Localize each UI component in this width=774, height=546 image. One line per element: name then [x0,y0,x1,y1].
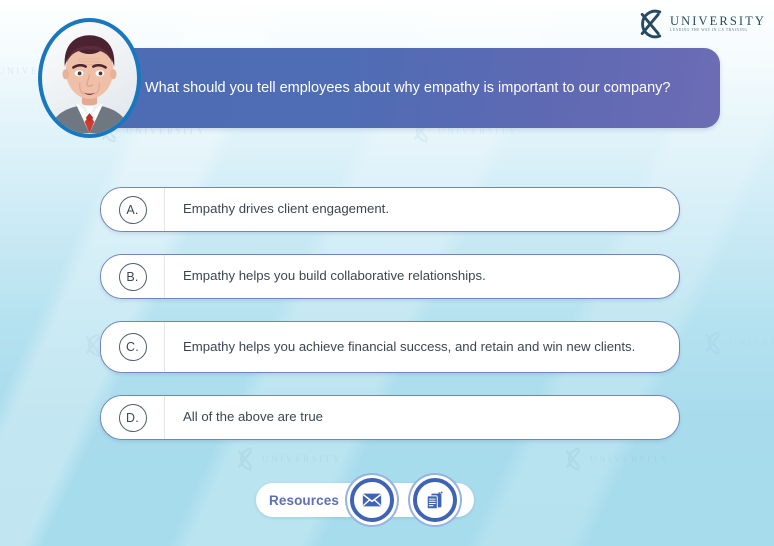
resources-bar: Resources [256,483,474,517]
option-letter-badge: B. [101,255,165,298]
option-letter-badge: D. [101,396,165,439]
option-letter: D. [119,404,147,432]
brand-name: UNIVERSITY [670,15,766,28]
option-letter-badge: A. [101,188,165,231]
option-letter-badge: C. [101,322,165,372]
option-text: Empathy helps you build collaborative re… [165,267,679,285]
avatar [38,18,141,138]
option-text: Empathy helps you achieve financial succ… [165,338,679,356]
option-letter: A. [119,196,147,224]
option-letter: C. [119,333,147,361]
envelope-icon [361,489,383,511]
answer-option-b[interactable]: B. Empathy helps you build collaborative… [100,254,680,299]
option-letter: B. [119,263,147,291]
brand-tagline: LEADING THE WAY IN CX TRAINING [670,29,766,33]
brand-logo: UNIVERSITY LEADING THE WAY IN CX TRAININ… [635,8,766,40]
option-text: Empathy drives client engagement. [165,200,679,218]
xc-monogram-icon [700,330,726,356]
document-resource-button[interactable] [413,478,457,522]
question-text: What should you tell employees about why… [88,78,705,99]
resources-label: Resources [269,483,339,517]
male-presenter-avatar-icon [42,22,137,134]
slide-canvas: UNIVERSITY UNIVERSITY UNIVERSITY UNIVERS… [0,0,774,546]
watermark-label: UNIVERSITY [730,338,774,348]
option-text: All of the above are true [165,408,679,426]
answer-option-a[interactable]: A. Empathy drives client engagement. [100,187,680,232]
answer-option-c[interactable]: C. Empathy helps you achieve financial s… [100,321,680,373]
xc-monogram-icon [635,8,667,40]
document-notes-icon [424,489,446,511]
answer-option-d[interactable]: D. All of the above are true [100,395,680,440]
question-banner: What should you tell employees about why… [88,48,720,128]
email-resource-button[interactable] [350,478,394,522]
answer-options-list: A. Empathy drives client engagement. B. … [100,187,680,462]
background-watermark: UNIVERSITY [700,330,774,356]
